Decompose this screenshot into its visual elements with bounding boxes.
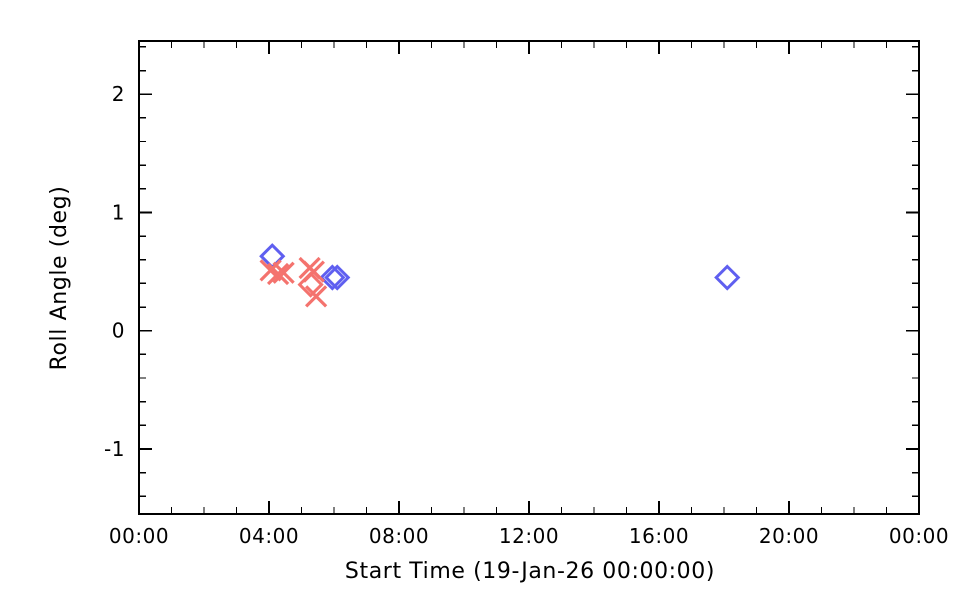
x-tick-label: 04:00 [239, 524, 299, 548]
x-axis-title: Start Time (19-Jan-26 00:00:00) [345, 559, 715, 584]
y-tick-label: 2 [112, 82, 125, 106]
x-axis-ticks [139, 41, 919, 514]
axis-frame [139, 41, 919, 514]
scatter-plot-figure: 00:0004:0008:0012:0016:0020:0000:00 210-… [0, 0, 960, 600]
y-tick-label: -1 [104, 437, 125, 461]
x-tick-label: 16:00 [629, 524, 689, 548]
y-axis-tick-labels: 210-1 [104, 82, 125, 461]
x-tick-label: 08:00 [369, 524, 429, 548]
x-axis-tick-labels: 00:0004:0008:0012:0016:0020:0000:00 [109, 524, 949, 548]
y-axis-title: Roll Angle (deg) [47, 186, 72, 371]
plot-canvas: 00:0004:0008:0012:0016:0020:0000:00 210-… [0, 0, 960, 600]
y-tick-label: 0 [112, 319, 125, 343]
x-tick-label: 00:00 [109, 524, 169, 548]
x-tick-label: 20:00 [759, 524, 819, 548]
data-markers-layer [261, 245, 739, 306]
y-axis-ticks [139, 47, 919, 496]
y-tick-label: 1 [112, 200, 125, 224]
data-point-diamond [716, 267, 738, 289]
x-tick-label: 12:00 [499, 524, 559, 548]
x-tick-label: 00:00 [889, 524, 949, 548]
